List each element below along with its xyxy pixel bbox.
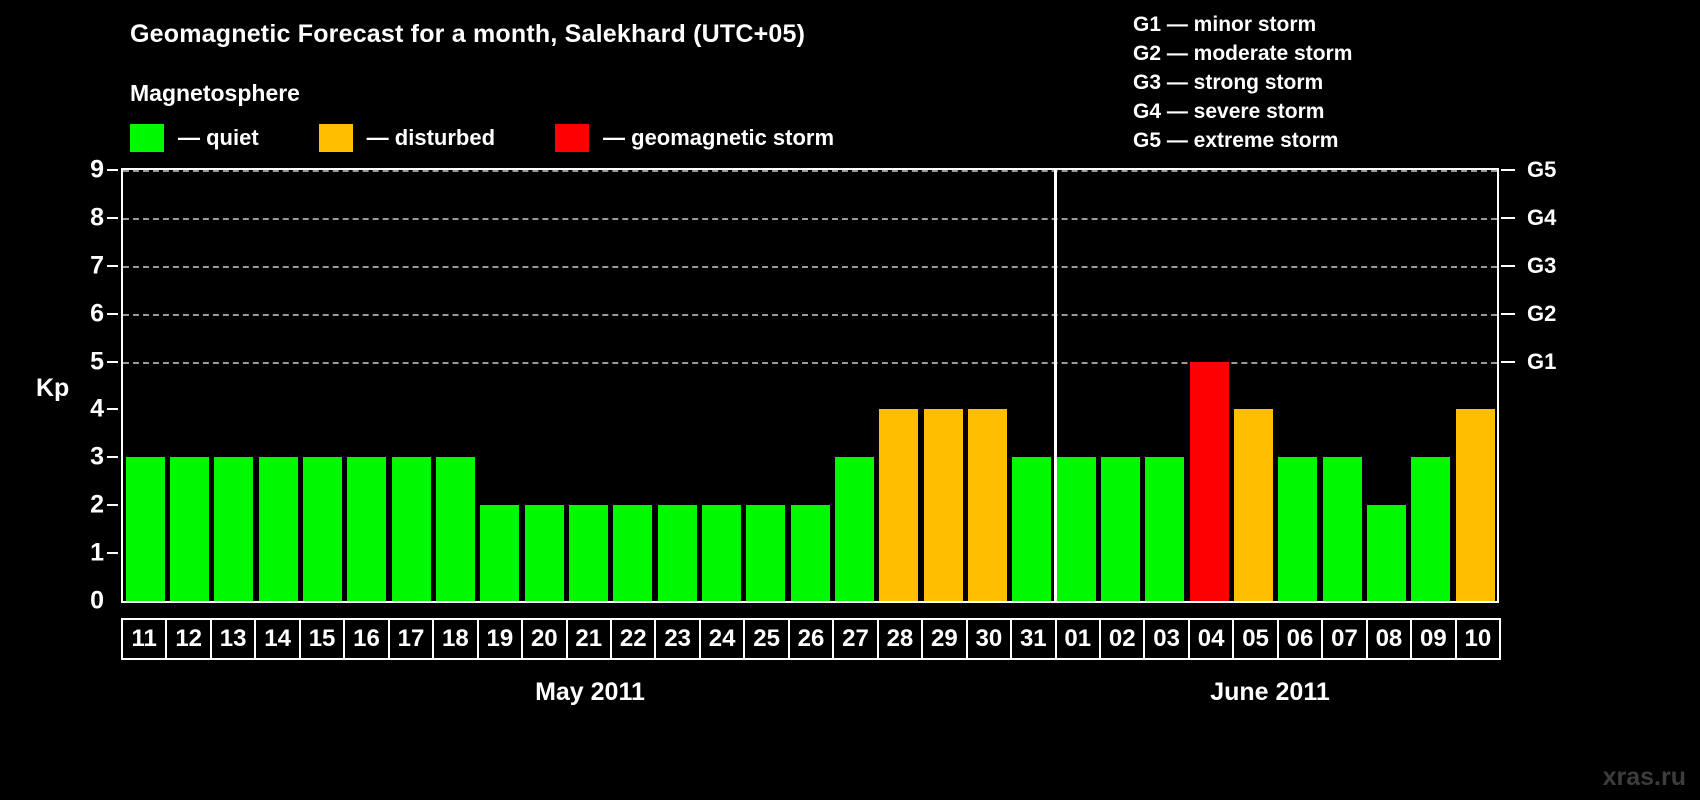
- bar-cell-23[interactable]: [655, 170, 699, 601]
- bar-25[interactable]: [746, 505, 785, 601]
- y-tick-label-1: 1: [74, 539, 104, 568]
- bar-02[interactable]: [1101, 457, 1140, 601]
- g-tick-mark-G4: [1501, 217, 1515, 219]
- date-label-31: 31: [1010, 618, 1056, 660]
- date-label-17: 17: [388, 618, 434, 660]
- legend-item-storm: — geomagnetic storm: [555, 124, 834, 152]
- g-tick-label-G4: G4: [1527, 205, 1556, 231]
- date-label-13: 13: [210, 618, 256, 660]
- legend-label-quiet: — quiet: [178, 125, 259, 151]
- bar-series: [123, 170, 1497, 601]
- month-label-left: May 2011: [430, 678, 750, 707]
- month-divider-line: [1054, 170, 1057, 601]
- legend-swatch-quiet: [130, 124, 164, 152]
- g-scale-row-3: G3 — strong storm: [1133, 68, 1352, 97]
- bar-cell-20[interactable]: [522, 170, 566, 601]
- legend: — quiet— disturbed— geomagnetic storm: [130, 124, 894, 152]
- bar-27[interactable]: [835, 457, 874, 601]
- y-tick-mark-9: [107, 169, 118, 171]
- bar-09[interactable]: [1411, 457, 1450, 601]
- g-tick-mark-G3: [1501, 265, 1515, 267]
- bar-cell-13[interactable]: [212, 170, 256, 601]
- bar-cell-10[interactable]: [1453, 170, 1497, 601]
- y-tick-label-4: 4: [74, 395, 104, 424]
- bar-cell-04[interactable]: [1187, 170, 1231, 601]
- legend-label-storm: — geomagnetic storm: [603, 125, 834, 151]
- y-axis-title: Kp: [36, 374, 69, 403]
- bar-cell-06[interactable]: [1276, 170, 1320, 601]
- date-label-06: 06: [1277, 618, 1323, 660]
- g-scale-row-4: G4 — severe storm: [1133, 97, 1352, 126]
- bar-cell-25[interactable]: [744, 170, 788, 601]
- legend-item-quiet: — quiet: [130, 124, 259, 152]
- y-tick-mark-6: [107, 313, 118, 315]
- y-tick-label-5: 5: [74, 347, 104, 376]
- bar-cell-01[interactable]: [1054, 170, 1098, 601]
- bar-22[interactable]: [613, 505, 652, 601]
- bar-cell-11[interactable]: [123, 170, 167, 601]
- bar-11[interactable]: [126, 457, 165, 601]
- date-axis: 1112131415161718192021222324252627282930…: [121, 618, 1499, 660]
- g-scale-row-2: G2 — moderate storm: [1133, 39, 1352, 68]
- g-scale-row-5: G5 — extreme storm: [1133, 126, 1352, 155]
- bar-30[interactable]: [968, 409, 1007, 601]
- date-label-04: 04: [1188, 618, 1234, 660]
- bar-20[interactable]: [525, 505, 564, 601]
- legend-swatch-storm: [555, 124, 589, 152]
- bar-26[interactable]: [791, 505, 830, 601]
- bar-08[interactable]: [1367, 505, 1406, 601]
- g-scale-legend: G1 — minor stormG2 — moderate stormG3 — …: [1133, 10, 1352, 155]
- date-label-25: 25: [743, 618, 789, 660]
- g-scale-row-1: G1 — minor storm: [1133, 10, 1352, 39]
- date-label-02: 02: [1099, 618, 1145, 660]
- bar-14[interactable]: [259, 457, 298, 601]
- date-label-24: 24: [699, 618, 745, 660]
- bar-cell-03[interactable]: [1143, 170, 1187, 601]
- chart-plot-area: [121, 168, 1499, 603]
- bar-07[interactable]: [1323, 457, 1362, 601]
- g-tick-label-G5: G5: [1527, 157, 1556, 183]
- bar-cell-15[interactable]: [300, 170, 344, 601]
- y-tick-mark-4: [107, 408, 118, 410]
- bar-17[interactable]: [392, 457, 431, 601]
- bar-05[interactable]: [1234, 409, 1273, 601]
- bar-cell-19[interactable]: [478, 170, 522, 601]
- bar-cell-08[interactable]: [1364, 170, 1408, 601]
- date-label-16: 16: [343, 618, 389, 660]
- y-tick-label-9: 9: [74, 156, 104, 185]
- legend-swatch-disturbed: [319, 124, 353, 152]
- date-label-14: 14: [254, 618, 300, 660]
- date-label-19: 19: [477, 618, 523, 660]
- bar-24[interactable]: [702, 505, 741, 601]
- date-label-10: 10: [1455, 618, 1501, 660]
- bar-31[interactable]: [1012, 457, 1051, 601]
- y-tick-mark-5: [107, 361, 118, 363]
- bar-cell-27[interactable]: [832, 170, 876, 601]
- bar-21[interactable]: [569, 505, 608, 601]
- g-tick-mark-G2: [1501, 313, 1515, 315]
- date-label-05: 05: [1232, 618, 1278, 660]
- bar-cell-26[interactable]: [788, 170, 832, 601]
- g-tick-mark-G1: [1501, 361, 1515, 363]
- bar-cell-30[interactable]: [965, 170, 1009, 601]
- g-tick-label-G3: G3: [1527, 253, 1556, 279]
- bar-cell-02[interactable]: [1098, 170, 1142, 601]
- bar-10[interactable]: [1456, 409, 1495, 601]
- legend-label-disturbed: — disturbed: [367, 125, 495, 151]
- date-label-08: 08: [1366, 618, 1412, 660]
- y-tick-label-3: 3: [74, 443, 104, 472]
- bar-cell-24[interactable]: [699, 170, 743, 601]
- bar-cell-31[interactable]: [1010, 170, 1054, 601]
- bar-28[interactable]: [879, 409, 918, 601]
- y-tick-label-0: 0: [74, 587, 104, 616]
- date-label-11: 11: [121, 618, 167, 660]
- date-label-22: 22: [610, 618, 656, 660]
- g-tick-label-G1: G1: [1527, 349, 1556, 375]
- y-tick-label-8: 8: [74, 203, 104, 232]
- bar-cell-29[interactable]: [921, 170, 965, 601]
- bar-cell-18[interactable]: [433, 170, 477, 601]
- date-label-15: 15: [299, 618, 345, 660]
- bar-29[interactable]: [924, 409, 963, 601]
- bar-19[interactable]: [480, 505, 519, 601]
- bar-18[interactable]: [436, 457, 475, 601]
- date-label-28: 28: [877, 618, 923, 660]
- g-scale-axis: G1G2G3G4G5: [1499, 168, 1619, 603]
- date-label-12: 12: [165, 618, 211, 660]
- watermark: xras.ru: [1603, 763, 1686, 792]
- legend-item-disturbed: — disturbed: [319, 124, 495, 152]
- date-label-21: 21: [566, 618, 612, 660]
- y-tick-mark-3: [107, 456, 118, 458]
- bar-cell-21[interactable]: [566, 170, 610, 601]
- bar-cell-16[interactable]: [345, 170, 389, 601]
- date-label-23: 23: [654, 618, 700, 660]
- section-label-magnetosphere: Magnetosphere: [130, 80, 300, 107]
- g-tick-label-G2: G2: [1527, 301, 1556, 327]
- bar-06[interactable]: [1278, 457, 1317, 601]
- bar-23[interactable]: [658, 505, 697, 601]
- date-label-29: 29: [921, 618, 967, 660]
- y-tick-label-2: 2: [74, 491, 104, 520]
- bar-cell-22[interactable]: [611, 170, 655, 601]
- bar-cell-09[interactable]: [1409, 170, 1453, 601]
- bar-cell-17[interactable]: [389, 170, 433, 601]
- y-tick-mark-7: [107, 265, 118, 267]
- bar-04[interactable]: [1190, 362, 1229, 601]
- month-label-right: June 2011: [1110, 678, 1430, 707]
- bar-15[interactable]: [303, 457, 342, 601]
- date-label-09: 09: [1410, 618, 1456, 660]
- date-label-27: 27: [832, 618, 878, 660]
- g-tick-mark-G5: [1501, 169, 1515, 171]
- date-label-18: 18: [432, 618, 478, 660]
- date-label-20: 20: [521, 618, 567, 660]
- bar-cell-05[interactable]: [1231, 170, 1275, 601]
- bar-cell-07[interactable]: [1320, 170, 1364, 601]
- bar-03[interactable]: [1145, 457, 1184, 601]
- date-label-01: 01: [1055, 618, 1101, 660]
- bar-cell-12[interactable]: [167, 170, 211, 601]
- y-tick-mark-2: [107, 504, 118, 506]
- bar-13[interactable]: [214, 457, 253, 601]
- bar-16[interactable]: [347, 457, 386, 601]
- y-axis: 0123456789: [78, 168, 118, 603]
- y-tick-mark-8: [107, 217, 118, 219]
- y-tick-label-7: 7: [74, 251, 104, 280]
- date-label-07: 07: [1321, 618, 1367, 660]
- y-tick-mark-1: [107, 552, 118, 554]
- bar-12[interactable]: [170, 457, 209, 601]
- date-label-30: 30: [966, 618, 1012, 660]
- page-title: Geomagnetic Forecast for a month, Salekh…: [130, 20, 805, 49]
- y-tick-label-6: 6: [74, 299, 104, 328]
- bar-cell-14[interactable]: [256, 170, 300, 601]
- bar-cell-28[interactable]: [877, 170, 921, 601]
- date-label-03: 03: [1143, 618, 1189, 660]
- bar-01[interactable]: [1057, 457, 1096, 601]
- date-label-26: 26: [788, 618, 834, 660]
